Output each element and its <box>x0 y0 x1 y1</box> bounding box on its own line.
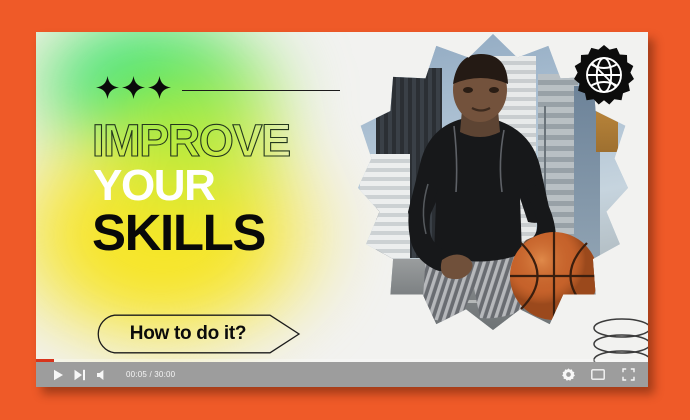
miniplayer-button[interactable] <box>587 362 609 387</box>
video-card: IMPROVE YOUR SKILLS How to do it? <box>36 32 648 387</box>
fullscreen-button[interactable] <box>617 362 639 387</box>
miniplayer-icon <box>591 369 605 380</box>
fullscreen-icon <box>622 368 635 381</box>
gear-icon <box>562 368 575 381</box>
player-control-bar[interactable]: 00:05 / 30:00 <box>36 362 648 387</box>
how-to-do-it-button[interactable]: How to do it? <box>94 314 302 354</box>
progress-fill <box>36 359 54 362</box>
headline-line-skills: SKILLS <box>92 209 421 256</box>
player-right-controls <box>557 362 639 387</box>
headline: IMPROVE YOUR SKILLS <box>91 120 421 256</box>
time-display: 00:05 / 30:00 <box>126 370 175 379</box>
play-icon <box>53 369 64 381</box>
headline-line-improve: IMPROVE <box>92 120 421 162</box>
settings-button[interactable] <box>557 362 579 387</box>
volume-icon <box>96 369 108 381</box>
progress-track[interactable] <box>36 359 648 362</box>
sparkle-star-2-icon <box>122 76 145 99</box>
play-button[interactable] <box>47 362 69 387</box>
cta-label: How to do it? <box>94 314 282 354</box>
volume-button[interactable] <box>91 362 113 387</box>
next-track-icon <box>74 369 86 381</box>
sparkles-top <box>96 76 171 99</box>
thumbnail-canvas: IMPROVE YOUR SKILLS How to do it? <box>0 0 690 420</box>
headline-line-your: YOUR <box>93 166 421 207</box>
header-rule <box>182 90 340 91</box>
sparkle-star-1-icon <box>96 76 119 99</box>
sparkle-star-3-icon <box>148 76 171 99</box>
globe-badge <box>573 44 635 106</box>
next-button[interactable] <box>69 362 91 387</box>
